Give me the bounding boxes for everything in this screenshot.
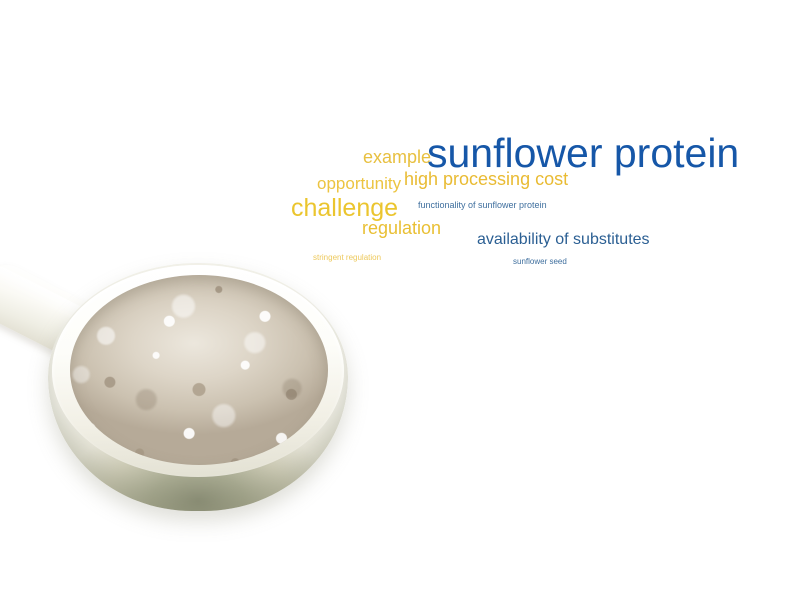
word-cloud-term[interactable]: opportunity (317, 175, 401, 192)
word-cloud: sunflower proteinexamplehigh processing … (0, 0, 800, 600)
word-cloud-term[interactable]: sunflower seed (513, 258, 567, 266)
word-cloud-term[interactable]: functionality of sunflower protein (418, 201, 547, 210)
word-cloud-term[interactable]: high processing cost (404, 170, 568, 188)
word-cloud-term[interactable]: availability of substitutes (477, 232, 650, 248)
word-cloud-term[interactable]: stringent regulation (313, 254, 381, 262)
word-cloud-term[interactable]: regulation (362, 219, 441, 237)
word-cloud-term[interactable]: sunflower protein (427, 133, 739, 174)
slide-canvas: sunflower proteinexamplehigh processing … (0, 0, 800, 600)
word-cloud-term[interactable]: example (363, 148, 431, 166)
